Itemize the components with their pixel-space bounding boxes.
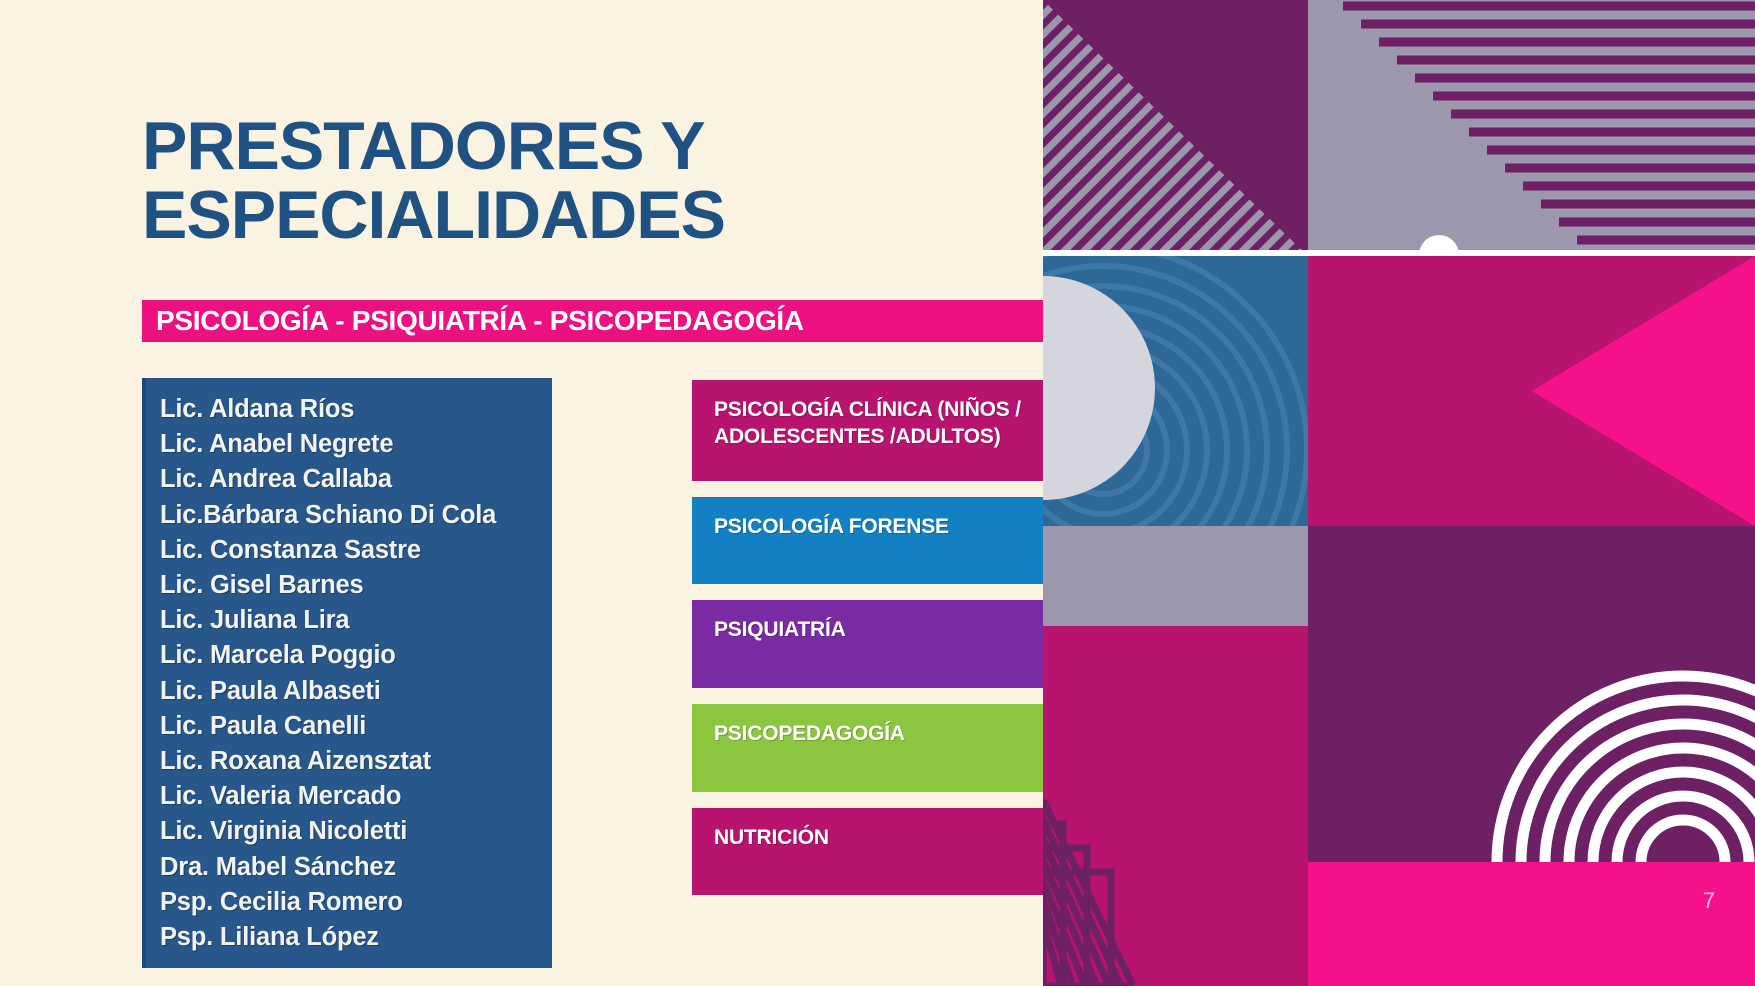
presentation-slide: PRESTADORES Y ESPECIALIDADES PSICOLOGÍA … <box>0 0 1755 986</box>
title-line-1: PRESTADORES Y <box>142 112 1002 181</box>
decor-bottom-right-arcs <box>1308 526 1755 986</box>
practitioner-name: Lic. Gisel Barnes <box>160 568 552 603</box>
practitioner-name: Lic.Bárbara Schiano Di Cola <box>160 498 552 533</box>
practitioner-name: Lic. Constanza Sastre <box>160 533 552 568</box>
decor-gray-band <box>1043 526 1308 626</box>
practitioner-name: Psp. Cecilia Romero <box>160 885 552 920</box>
practitioner-name: Lic. Roxana Aizensztat <box>160 744 552 779</box>
decor-bottom-left-corner <box>1043 626 1308 986</box>
subtitle-text: PSICOLOGÍA - PSIQUIATRÍA - PSICOPEDAGOGÍ… <box>142 305 804 337</box>
practitioner-name: Lic. Valeria Mercado <box>160 779 552 814</box>
practitioner-name: Lic. Marcela Poggio <box>160 638 552 673</box>
practitioner-name: Lic. Aldana Ríos <box>160 392 552 427</box>
slide-page-number: 7 <box>1703 888 1715 914</box>
page-title: PRESTADORES Y ESPECIALIDADES <box>142 112 1002 251</box>
practitioner-name: Lic. Paula Canelli <box>160 709 552 744</box>
practitioner-name: Lic. Paula Albaseti <box>160 674 552 709</box>
practitioner-name: Lic. Andrea Callaba <box>160 462 552 497</box>
decorative-pattern-svg <box>1043 0 1755 986</box>
decor-top-right-chevrons <box>1308 0 1755 256</box>
practitioner-name: Lic. Juliana Lira <box>160 603 552 638</box>
slide-content: PRESTADORES Y ESPECIALIDADES PSICOLOGÍA … <box>142 0 1042 986</box>
practitioner-name: Psp. Liliana López <box>160 920 552 955</box>
subtitle-banner: PSICOLOGÍA - PSIQUIATRÍA - PSICOPEDAGOGÍ… <box>142 300 1110 342</box>
decor-mid-right-triangle <box>1308 256 1755 526</box>
decor-top-left-stripes <box>1043 0 1308 256</box>
practitioner-name: Dra. Mabel Sánchez <box>160 850 552 885</box>
practitioner-list-panel: Lic. Aldana RíosLic. Anabel NegreteLic. … <box>142 378 552 968</box>
title-line-2: ESPECIALIDADES <box>142 181 1002 250</box>
practitioner-name: Lic. Virginia Nicoletti <box>160 814 552 849</box>
decorative-graphic-panel: 7 <box>1043 0 1755 986</box>
practitioner-name: Lic. Anabel Negrete <box>160 427 552 462</box>
